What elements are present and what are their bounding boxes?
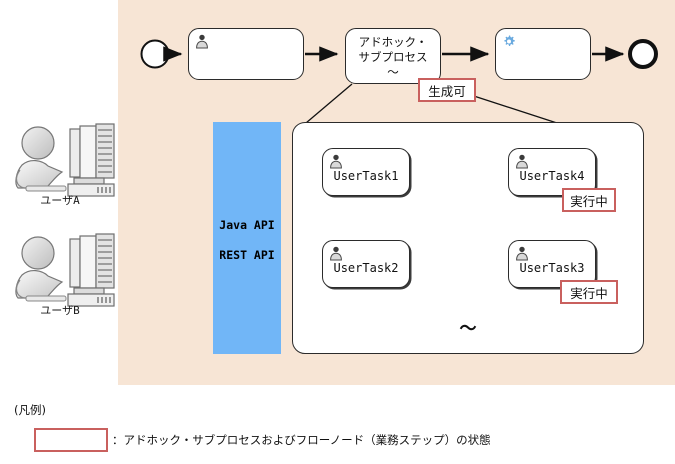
api-rest-label: REST API bbox=[213, 248, 281, 262]
adhoc-label-line2: サブプロセス bbox=[346, 50, 440, 65]
usertask3-label: UserTask3 bbox=[509, 261, 595, 275]
usertask1-node[interactable]: UserTask1 bbox=[322, 148, 410, 196]
actor-label-b: ユーザB bbox=[4, 302, 116, 318]
status-badge-adhoc: 生成可 bbox=[418, 78, 476, 102]
usertask2-node[interactable]: UserTask2 bbox=[322, 240, 410, 288]
usertask4-label: UserTask4 bbox=[509, 169, 595, 183]
user-task-icon bbox=[515, 246, 529, 261]
api-java-label: Java API bbox=[213, 218, 281, 232]
user-task-icon bbox=[329, 154, 343, 169]
user-at-computer-icon bbox=[4, 122, 116, 190]
service-task-node[interactable] bbox=[495, 28, 591, 80]
user-task-icon bbox=[195, 34, 209, 49]
user-task-icon bbox=[329, 246, 343, 261]
legend-swatch bbox=[34, 428, 108, 452]
actor-user-a: ユーザA bbox=[4, 122, 116, 208]
legend-description: ：アドホック・サブプロセスおよびフローノード（業務ステップ）の状態 bbox=[112, 432, 491, 448]
usertask2-label: UserTask2 bbox=[323, 261, 409, 275]
status-badge-usertask4: 実行中 bbox=[562, 188, 616, 212]
actor-label-a: ユーザA bbox=[4, 192, 116, 208]
status-badge-usertask3: 実行中 bbox=[560, 280, 618, 304]
detail-tilde-marker: 〜 bbox=[293, 314, 643, 339]
user-task-node[interactable] bbox=[188, 28, 304, 80]
usertask1-label: UserTask1 bbox=[323, 169, 409, 183]
legend: (凡例) ：アドホック・サブプロセスおよびフローノード（業務ステップ）の状態 bbox=[14, 402, 674, 418]
adhoc-label-line1: アドホック・ bbox=[346, 35, 440, 50]
adhoc-subprocess-node[interactable]: アドホック・ サブプロセス 〜 bbox=[345, 28, 441, 84]
diagram-canvas: ユーザA ユーザB Java API REST API アドホック・ サブプロセ… bbox=[0, 0, 675, 464]
legend-row: ：アドホック・サブプロセスおよびフローノード（業務ステップ）の状態 bbox=[34, 428, 491, 452]
api-band: Java API REST API bbox=[213, 122, 281, 354]
actor-user-b: ユーザB bbox=[4, 232, 116, 318]
user-at-computer-icon bbox=[4, 232, 116, 300]
legend-title: (凡例) bbox=[14, 402, 674, 418]
gear-icon bbox=[502, 34, 516, 49]
user-task-icon bbox=[515, 154, 529, 169]
adhoc-subprocess-label: アドホック・ サブプロセス 〜 bbox=[346, 35, 440, 80]
